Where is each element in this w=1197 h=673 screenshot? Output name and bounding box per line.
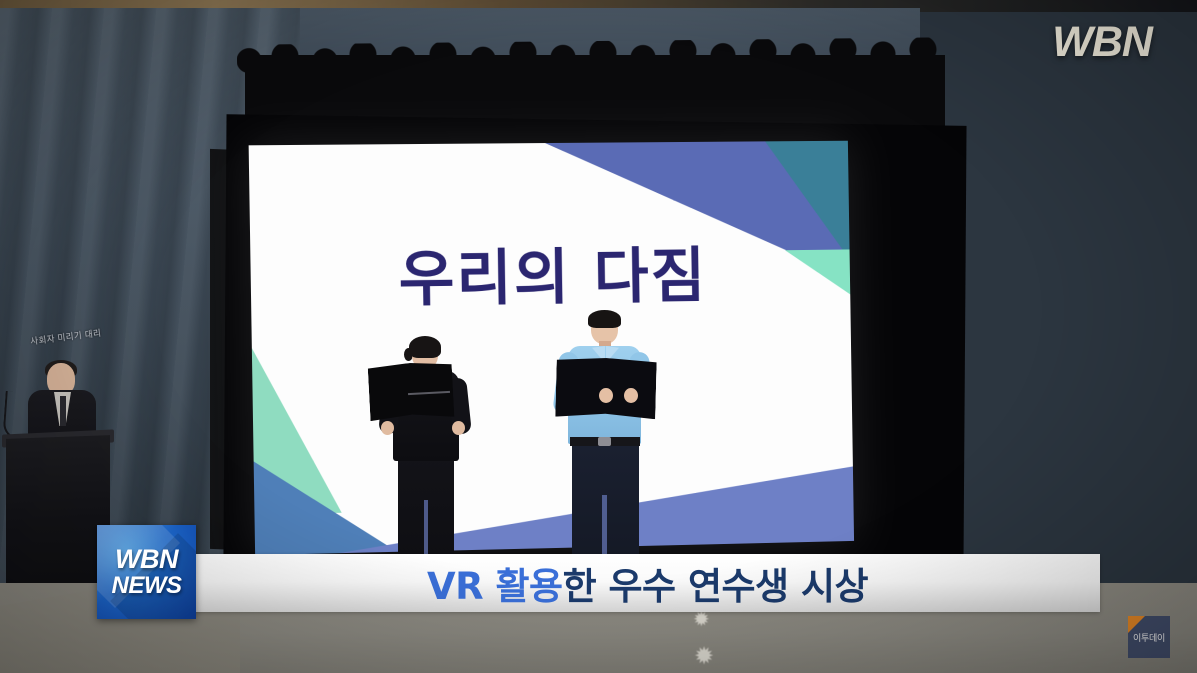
lower-third-bar: VR 활용한 우수 연수생 시상 (195, 554, 1100, 612)
presenter-right-hair (588, 310, 621, 328)
publisher-watermark: 이투데이 (1128, 616, 1170, 658)
slide-surface: 우리의 다짐 (249, 141, 854, 555)
slide-title: 우리의 다짐 (250, 226, 850, 321)
headline-rest: 한 우수 연수생 시상 (563, 565, 868, 608)
wbn-news-logo: WBN NEWS (97, 525, 196, 619)
podium-speaker-tie (60, 396, 66, 426)
presenter-left-hand-right (452, 421, 465, 435)
presenter-right-belt-buckle (598, 437, 611, 446)
logo-line-news: NEWS (112, 574, 182, 598)
presenter-right-hand-right (624, 388, 638, 403)
logo-text-group: WBN NEWS (97, 525, 196, 619)
logo-line-wbn: WBN (115, 546, 178, 573)
floor-decor-icon: ✹ (693, 610, 710, 630)
video-frame: 우리의 다짐 사회자 미리기 대리 ✹ ✹ WBN (0, 0, 1197, 673)
publisher-watermark-label: 이투데이 (1133, 631, 1165, 644)
headline: VR 활용한 우수 연수생 시상 (195, 556, 1100, 610)
projection-screen: 우리의 다짐 (249, 141, 854, 555)
headline-highlight: VR 활용 (427, 565, 563, 608)
network-watermark: WBN (1052, 18, 1152, 67)
presenter-left-hair (409, 336, 441, 358)
presenter-right-hand-left (599, 388, 613, 403)
presenter-left-hand-left (381, 421, 394, 435)
floor-decor-icon: ✹ (694, 645, 714, 669)
